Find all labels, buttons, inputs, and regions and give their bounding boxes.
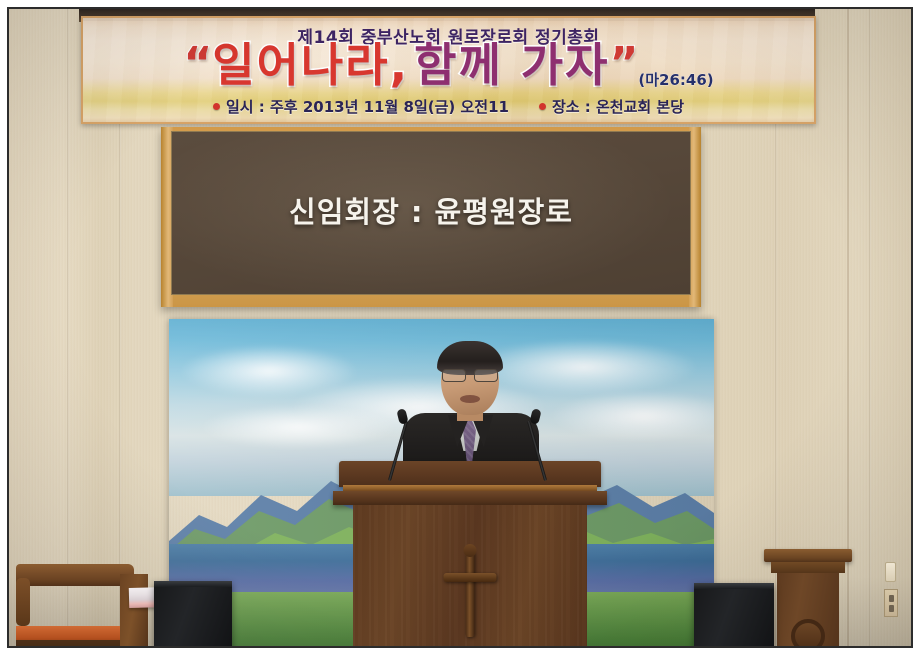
sanctuary-scene: 제14회 중부산노회 원로장로회 정기총회 “일어나라, 함께 가자”(마26:… <box>9 9 911 646</box>
slogan-red-text: 일어나라 <box>212 38 389 92</box>
photo-inner-border: 제14회 중부산노회 원로장로회 정기총회 “일어나라, 함께 가자”(마26:… <box>7 7 913 648</box>
pulpit-top <box>339 461 601 487</box>
slogan-comma: , <box>390 38 409 92</box>
audio-speaker-left <box>154 581 232 646</box>
outlet-slot <box>889 595 894 602</box>
event-banner: 제14회 중부산노회 원로장로회 정기총회 “일어나라, 함께 가자”(마26:… <box>81 16 816 124</box>
projection-screen-text: 신임회장 : 윤평원장로 <box>289 189 573 231</box>
slogan-open-quote: “ <box>183 38 212 89</box>
pulpit-body <box>353 505 587 646</box>
pew-armrest <box>16 578 30 626</box>
outlet-slot <box>889 605 894 612</box>
cloud <box>549 391 714 441</box>
banner-datetime-text: 일시 : 주후 2013년 11월 8일(금) 오전11 <box>226 96 509 117</box>
slogan-close-quote: ” <box>609 38 638 89</box>
wooden-pulpit <box>339 461 601 646</box>
pew-backrest <box>16 564 134 586</box>
church-pew-left <box>16 564 148 646</box>
scripture-reference: (마26:46) <box>638 71 713 89</box>
bullet-dot-icon <box>213 103 220 110</box>
wall-seam <box>67 9 69 646</box>
bullet-dot-icon <box>539 103 546 110</box>
pew-end-post <box>120 574 148 646</box>
speaker-top-bevel <box>694 583 774 589</box>
projection-screen: 신임회장 : 윤평원장로 <box>171 131 691 295</box>
cloud <box>199 405 399 449</box>
banner-datetime-item: 일시 : 주후 2013년 11월 8일(금) 오전11 <box>213 96 509 117</box>
pulpit-shelf <box>333 491 607 505</box>
banner-info-row: 일시 : 주후 2013년 11월 8일(금) 오전11 장소 : 온천교회 본… <box>83 96 814 117</box>
glasses-icon <box>442 369 498 381</box>
slogan-purple-text: 함께 가자 <box>414 38 609 92</box>
circular-emblem-icon <box>791 619 825 646</box>
stand-top <box>764 549 852 562</box>
photo-frame: 제14회 중부산노회 원로장로회 정기총회 “일어나라, 함께 가자”(마26:… <box>0 0 920 655</box>
speaker-at-pulpit <box>401 343 541 473</box>
stand-neck <box>771 562 845 573</box>
speaker-top-bevel <box>154 581 232 587</box>
wooden-stand-right <box>769 549 847 646</box>
banner-venue-item: 장소 : 온천교회 본당 <box>539 96 684 117</box>
wall-outlet <box>884 589 898 617</box>
stand-body <box>777 573 839 646</box>
banner-slogan: “일어나라, 함께 가자”(마26:46) <box>83 42 814 88</box>
cross-icon <box>466 551 475 637</box>
wall-seam <box>869 9 871 646</box>
speaker-mouth <box>460 395 480 403</box>
banner-venue-text: 장소 : 온천교회 본당 <box>552 96 684 117</box>
projection-screen-frame: 신임회장 : 윤평원장로 <box>161 127 701 307</box>
audio-speaker-right <box>694 583 774 646</box>
wall-switch <box>885 562 896 582</box>
